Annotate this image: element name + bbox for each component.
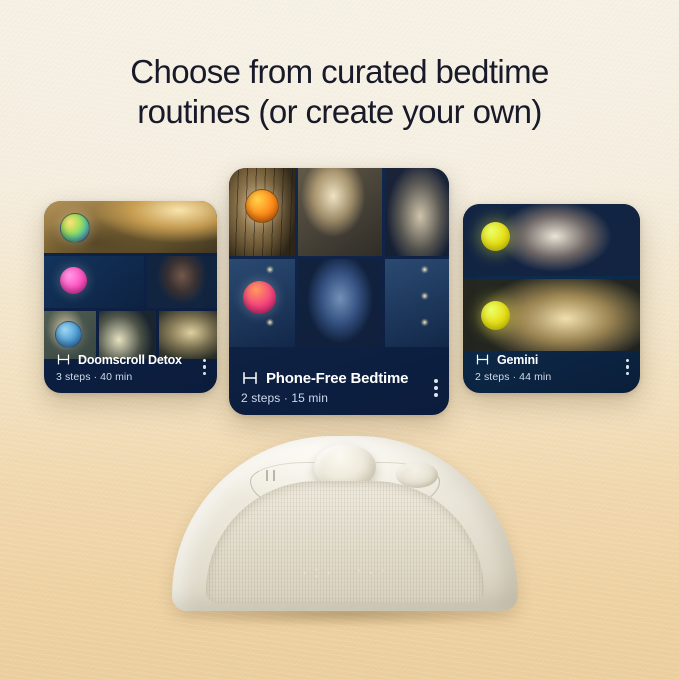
thumbnail-row: [463, 279, 640, 351]
thumbnail-image: [385, 259, 449, 347]
routine-title: Gemini: [497, 353, 538, 367]
routine-thumbnail-grid: [463, 204, 640, 351]
thumbnail-row: [463, 204, 640, 276]
badge-orange: [245, 189, 279, 223]
badge-yellow: [481, 222, 510, 251]
led-dot-matrix-display: [286, 565, 404, 581]
routine-icon: [56, 352, 71, 367]
thumbnail-row: [44, 201, 217, 253]
badge-pink: [60, 267, 87, 294]
routine-subtitle: 2 steps · 15 min: [241, 391, 437, 405]
routine-subtitle: 3 steps · 40 min: [56, 371, 205, 383]
thumbnail-image: [463, 204, 640, 276]
badge-rainbow: [60, 213, 90, 243]
routine-card-doomscroll-detox[interactable]: Doomscroll Detox 3 steps · 40 min: [44, 201, 217, 393]
routine-thumbnail-grid: [229, 168, 449, 347]
routine-card-phone-free-bedtime[interactable]: Phone-Free Bedtime 2 steps · 15 min: [229, 168, 449, 415]
routine-title: Doomscroll Detox: [78, 353, 182, 367]
routine-title: Phone-Free Bedtime: [266, 370, 408, 387]
more-vertical-icon[interactable]: [434, 379, 438, 397]
pause-icon: [266, 470, 275, 481]
badge-blue: [55, 321, 82, 348]
thumbnail-image: [44, 201, 217, 253]
more-vertical-icon[interactable]: [626, 359, 630, 376]
routine-icon: [475, 352, 490, 367]
device-body: [172, 436, 518, 611]
routine-subtitle: 2 steps · 44 min: [475, 371, 628, 383]
badge-magenta: [243, 281, 276, 314]
thumbnail-image: [44, 256, 144, 308]
routine-card-footer: Doomscroll Detox 3 steps · 40 min: [44, 352, 217, 393]
page-title: Choose from curated bedtime routines (or…: [0, 52, 679, 133]
routine-card-footer: Phone-Free Bedtime 2 steps · 15 min: [229, 369, 449, 415]
thumbnail-row: [229, 259, 449, 347]
thumbnail-image: [298, 168, 382, 256]
routine-card-footer: Gemini 2 steps · 44 min: [463, 352, 640, 393]
thumbnail-row: [229, 168, 449, 256]
thumbnail-image: [385, 168, 449, 256]
badge-yellow: [481, 301, 510, 330]
thumbnail-image: [229, 259, 295, 347]
thumbnail-row: [44, 256, 217, 308]
bedtime-speaker: [150, 418, 540, 633]
thumbnail-image: [229, 168, 295, 256]
more-vertical-icon[interactable]: [203, 359, 207, 376]
speaker-grille: [206, 481, 484, 603]
headline-line-1: Choose from curated bedtime: [130, 53, 549, 90]
routine-icon: [241, 369, 259, 387]
thumbnail-image: [147, 256, 217, 308]
routine-card-gemini[interactable]: Gemini 2 steps · 44 min: [463, 204, 640, 393]
headline-line-2: routines (or create your own): [137, 93, 541, 130]
thumbnail-image: [463, 279, 640, 351]
routine-thumbnail-grid: [44, 201, 217, 359]
thumbnail-image: [298, 259, 382, 347]
